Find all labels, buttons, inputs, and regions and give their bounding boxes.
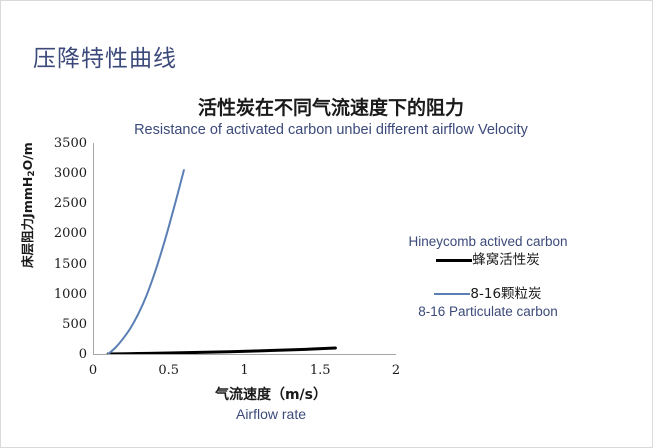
series-line-2 bbox=[108, 170, 184, 354]
x-axis-line bbox=[93, 354, 396, 355]
x-axis-tick: 0 bbox=[73, 364, 113, 377]
legend-group-particulate: 8-16颗粒炭 8-16 Particulate carbon bbox=[373, 285, 603, 321]
x-axis-tick: 2 bbox=[376, 364, 416, 377]
legend-row-honeycomb: 蜂窝活性炭 bbox=[373, 251, 603, 269]
legend-group-honeycomb: Hineycomb actived carbon 蜂窝活性炭 bbox=[373, 233, 603, 269]
legend-line-swatch-blue bbox=[434, 293, 470, 295]
chart-legend: Hineycomb actived carbon 蜂窝活性炭 8-16颗粒炭 8… bbox=[373, 233, 603, 321]
x-axis-tick: 0.5 bbox=[149, 364, 189, 377]
slide-canvas: 压降特性曲线 活性炭在不同气流速度下的阻力 Resistance of acti… bbox=[0, 0, 653, 448]
x-axis-tick: 1 bbox=[225, 364, 265, 377]
legend-caption-honeycomb-en: Hineycomb actived carbon bbox=[373, 233, 603, 251]
y-axis-tick: 1500 bbox=[41, 258, 87, 271]
y-axis-tick: 1000 bbox=[41, 288, 87, 301]
y-axis-tick: 3000 bbox=[41, 167, 87, 180]
series-lines bbox=[93, 143, 396, 354]
legend-label-particulate-cn: 8-16颗粒炭 bbox=[470, 285, 541, 303]
x-axis-tick-labels: 00.511.52 bbox=[93, 364, 396, 382]
legend-line-swatch-black bbox=[436, 259, 472, 262]
y-axis-title-main: 床层阻力JmmH bbox=[20, 177, 35, 268]
chart-title-chinese: 活性炭在不同气流速度下的阻力 bbox=[121, 96, 541, 120]
y-axis-tick: 0 bbox=[41, 348, 87, 361]
x-axis-tick: 1.5 bbox=[300, 364, 340, 377]
y-axis-tick: 2500 bbox=[41, 197, 87, 210]
legend-caption-particulate-en: 8-16 Particulate carbon bbox=[373, 303, 603, 321]
y-axis-tick-labels: 0500100015002000250030003500 bbox=[41, 143, 87, 355]
series-line-1 bbox=[108, 348, 335, 354]
x-axis-title-english: Airflow rate bbox=[121, 405, 421, 423]
y-axis-tick: 500 bbox=[41, 318, 87, 331]
legend-spacer bbox=[373, 269, 603, 285]
legend-label-honeycomb-cn: 蜂窝活性炭 bbox=[472, 251, 540, 269]
y-axis-title-tail: O/m bbox=[20, 142, 35, 170]
y-axis-title: 床层阻力JmmH2O/m bbox=[21, 130, 37, 280]
legend-row-particulate: 8-16颗粒炭 bbox=[373, 285, 603, 303]
x-axis-title-chinese: 气流速度（m/s） bbox=[121, 386, 421, 404]
y-axis-title-subscript: 2 bbox=[27, 170, 37, 176]
y-axis-tick: 2000 bbox=[41, 227, 87, 240]
plot-area bbox=[93, 143, 396, 354]
chart-title-english: Resistance of activated carbon unbei dif… bbox=[61, 121, 601, 140]
y-axis-tick: 3500 bbox=[41, 137, 87, 150]
chart-container: 活性炭在不同气流速度下的阻力 Resistance of activated c… bbox=[1, 1, 653, 448]
